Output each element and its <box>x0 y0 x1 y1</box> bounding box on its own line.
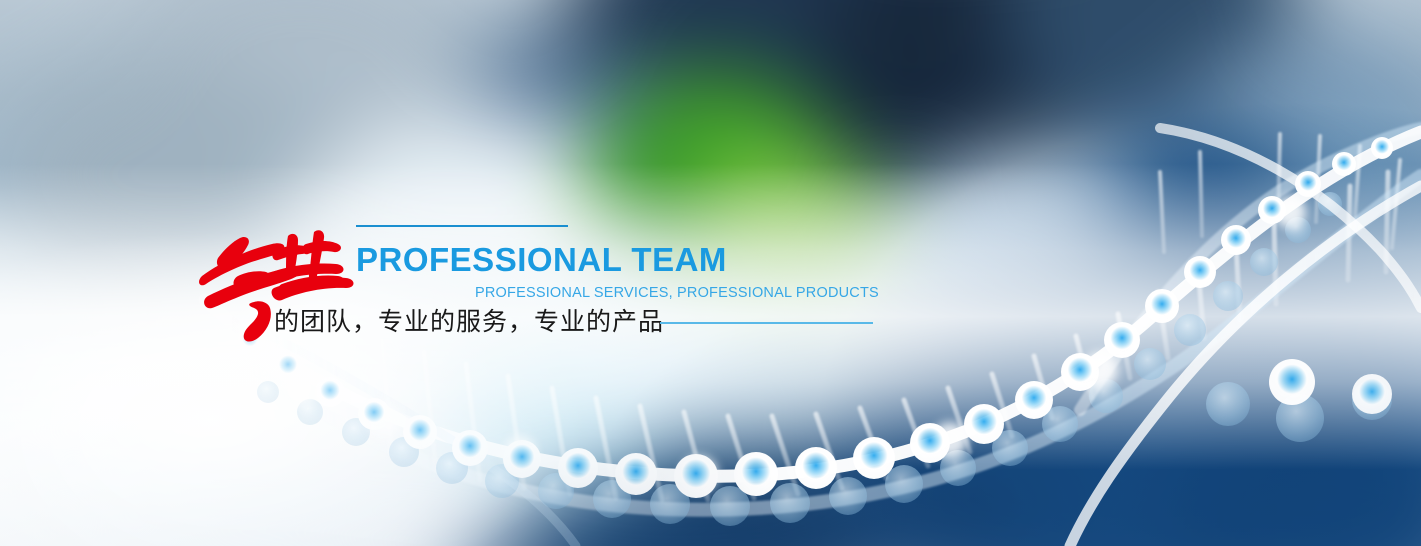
subtitle-bottom-rule <box>660 322 873 324</box>
banner-text-block: PROFESSIONAL TEAM PROFESSIONAL SERVICES,… <box>0 0 1421 546</box>
page-title: PROFESSIONAL TEAM <box>356 243 727 276</box>
subtitle-english: PROFESSIONAL SERVICES, PROFESSIONAL PROD… <box>475 286 879 301</box>
professional-team-banner: PROFESSIONAL TEAM PROFESSIONAL SERVICES,… <box>0 0 1421 546</box>
subtitle-chinese: 的团队，专业的服务，专业的产品 <box>274 307 664 338</box>
headline-top-rule <box>356 225 568 227</box>
